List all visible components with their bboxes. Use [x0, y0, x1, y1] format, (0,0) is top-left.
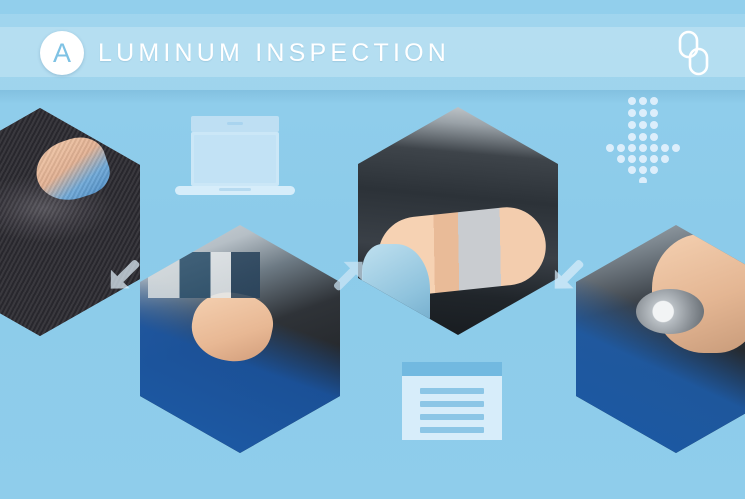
- arrow-step2-to-step3: [326, 252, 372, 298]
- brand-lockup: A LUMINUM INSPECTION: [40, 31, 450, 75]
- photo-turbine-component: [0, 108, 140, 336]
- dotted-down-arrow-icon: [603, 93, 683, 183]
- hex-photo-technician-measuring: [140, 225, 340, 453]
- document-card-icon: [402, 362, 502, 440]
- arrow-step3-to-step4: [545, 252, 591, 298]
- photo-dial-caliper-check: [576, 225, 745, 453]
- arrow-step1-to-step2: [101, 252, 147, 298]
- page-title: LUMINUM INSPECTION: [98, 39, 450, 68]
- hex-photo-dial-caliper-check: [576, 225, 745, 453]
- laptop-icon: [173, 112, 297, 202]
- photo-micrometer-check: [358, 107, 558, 335]
- hex-photo-turbine-component: [0, 108, 140, 336]
- photo-technician-measuring: [140, 225, 340, 453]
- chain-link-icon: [669, 27, 719, 79]
- brand-initial-letter: A: [53, 40, 71, 67]
- infographic-canvas: A LUMINUM INSPECTION: [0, 0, 745, 499]
- brand-initial-badge: A: [40, 31, 84, 75]
- hex-photo-micrometer-check: [358, 107, 558, 335]
